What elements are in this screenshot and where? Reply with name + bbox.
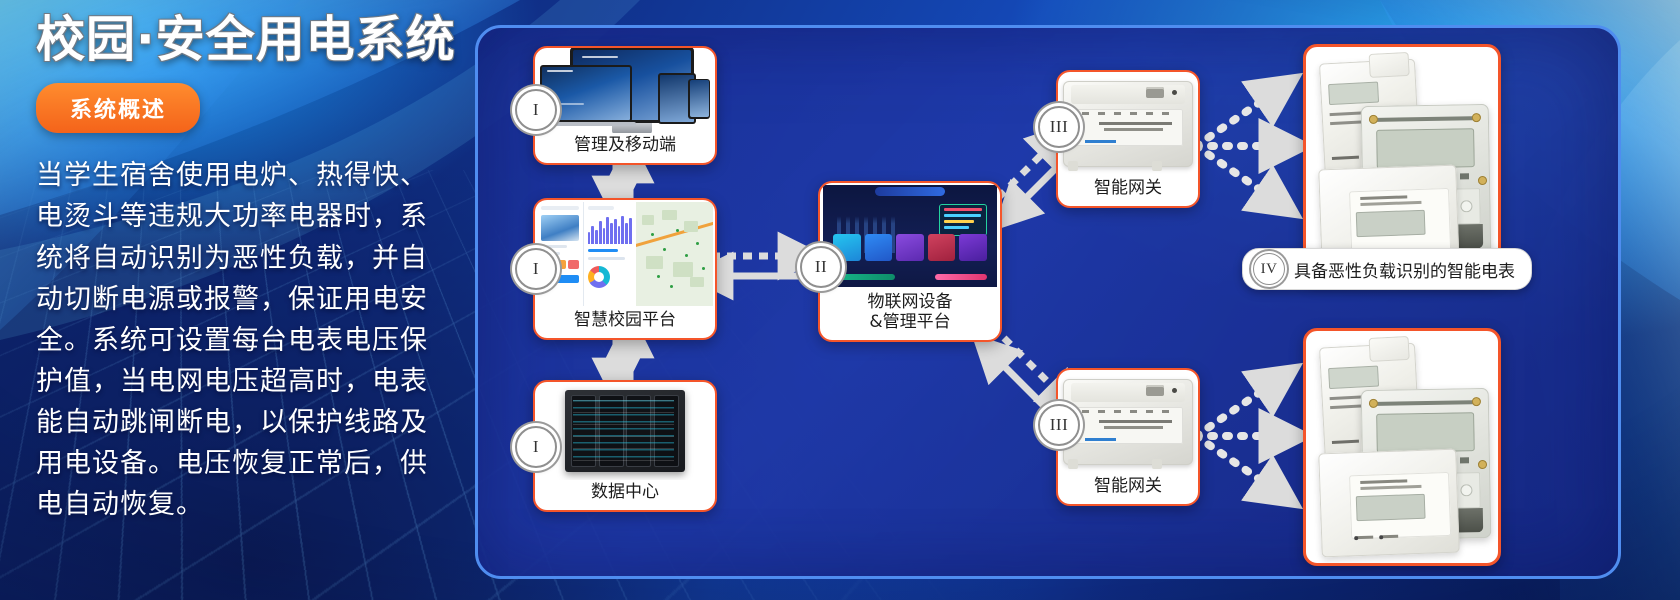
node-label-gateway-top: 智能网关 [1058, 176, 1198, 206]
poster-stage: 校园·安全用电系统 系统概述 当学生宿舍使用电炉、热得快、电烫斗等违规大功率电器… [0, 0, 1680, 600]
node-smart-meters-label-pill[interactable]: IV 具备恶性负载识别的智能电表 [1242, 248, 1532, 290]
node-data-center[interactable]: 数据中心 [533, 380, 717, 512]
diagram-panel: 管理及移动端 I [475, 25, 1621, 579]
node-label-gateway-bottom: 智能网关 [1058, 474, 1198, 504]
node-label-admin-mobile: 管理及移动端 [535, 133, 715, 163]
badge-roman-data-center: I [515, 426, 557, 468]
server-rack-icon [535, 382, 715, 480]
connector-campus-datacenter [616, 336, 630, 380]
badge-roman-smart-meters: IV [1253, 253, 1285, 285]
node-smart-meters-top[interactable] [1303, 44, 1501, 282]
badge-roman-gateway-bottom: III [1038, 404, 1080, 446]
badge-roman-iot-platform: II [800, 246, 842, 288]
section-badge-overview: 系统概述 [36, 83, 200, 133]
node-label-smart-campus: 智慧校园平台 [535, 308, 715, 338]
badge-roman-smart-campus: I [515, 248, 557, 290]
page-title: 校园·安全用电系统 [36, 14, 456, 65]
node-label-data-center: 数据中心 [535, 480, 715, 510]
iot-dashboard-icon [820, 183, 1000, 290]
campus-dashboard-icon [535, 200, 715, 308]
overview-paragraph: 当学生宿舍使用电炉、热得快、电烫斗等违规大功率电器时，系统将自动识别为恶性负载，… [36, 155, 428, 524]
hero-block: 校园·安全用电系统 系统概述 当学生宿舍使用电炉、热得快、电烫斗等违规大功率电器… [36, 14, 456, 525]
smart-meter-group-bottom [1306, 331, 1498, 563]
node-smart-campus[interactable]: 智慧校园平台 [533, 198, 717, 340]
connector-admin-campus [616, 161, 630, 198]
badge-roman-gateway-top: III [1038, 106, 1080, 148]
node-admin-mobile[interactable]: 管理及移动端 [533, 46, 717, 165]
node-label-iot-platform: 物联网设备 &管理平台 [820, 290, 1000, 340]
wide-meter-icon [1320, 451, 1458, 555]
node-iot-platform[interactable]: 物联网设备 &管理平台 [818, 181, 1002, 342]
monitor-devices-icon [535, 48, 715, 133]
connector-iot-gateway-bottom [990, 338, 1066, 414]
node-label-smart-meters: 具备恶性负载识别的智能电表 [1294, 257, 1515, 282]
badge-roman-admin-mobile: I [515, 89, 557, 131]
connector-campus-iot [711, 256, 803, 276]
smart-meter-group-top [1306, 47, 1498, 279]
node-gateway-top[interactable]: 智能网关 [1056, 70, 1200, 208]
node-gateway-bottom[interactable]: 智能网关 [1056, 368, 1200, 506]
node-smart-meters-bottom[interactable] [1303, 328, 1501, 566]
